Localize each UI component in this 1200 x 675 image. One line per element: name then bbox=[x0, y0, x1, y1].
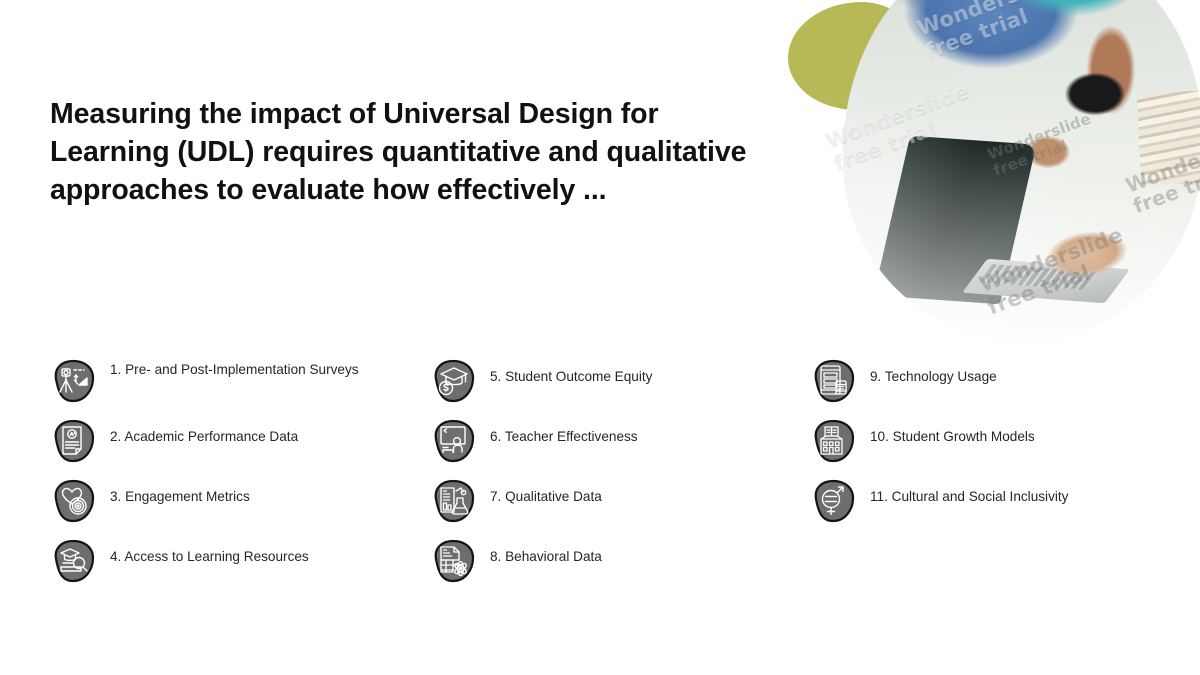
list-item[interactable]: 10. Student Growth Models bbox=[810, 418, 1160, 478]
list-column-1: 1. Pre- and Post-Implementation Surveys bbox=[50, 358, 430, 598]
list-column-3: 9. Technology Usage bbox=[810, 358, 1160, 598]
school-book-icon bbox=[810, 419, 856, 463]
report-card-grade-icon bbox=[50, 419, 96, 463]
list-item-label: 9. Technology Usage bbox=[870, 358, 997, 386]
whiteboard-teacher-icon bbox=[430, 419, 476, 463]
hero-photo-layer bbox=[843, 0, 1200, 342]
slide-canvas: Wonderslide free trial Wonderslide free … bbox=[0, 0, 1200, 675]
page-title: Measuring the impact of Universal Design… bbox=[50, 96, 780, 210]
tablet-device-icon bbox=[810, 359, 856, 403]
list-item-label: 2. Academic Performance Data bbox=[110, 418, 298, 446]
list-item[interactable]: 3. Engagement Metrics bbox=[50, 478, 430, 538]
graduation-magnifier-icon bbox=[50, 539, 96, 583]
list-item-label: 3. Engagement Metrics bbox=[110, 478, 250, 506]
list-item[interactable]: 2. Academic Performance Data bbox=[50, 418, 430, 478]
list-item[interactable]: 6. Teacher Effectiveness bbox=[430, 418, 810, 478]
list-item-label: 10. Student Growth Models bbox=[870, 418, 1035, 446]
list-item[interactable]: 7. Qualitative Data bbox=[430, 478, 810, 538]
list-item-label: 8. Behavioral Data bbox=[490, 538, 602, 566]
list-item[interactable]: 1. Pre- and Post-Implementation Surveys bbox=[50, 358, 430, 418]
graduation-cap-dollar-icon bbox=[430, 359, 476, 403]
list-item-label: 6. Teacher Effectiveness bbox=[490, 418, 638, 446]
list-item[interactable]: 5. Student Outcome Equity bbox=[430, 358, 810, 418]
list-item[interactable]: 9. Technology Usage bbox=[810, 358, 1160, 418]
books-stack bbox=[1137, 90, 1200, 186]
feature-list: 1. Pre- and Post-Implementation Surveys bbox=[50, 358, 1160, 598]
list-item-label: 4. Access to Learning Resources bbox=[110, 538, 309, 566]
document-atom-icon bbox=[430, 539, 476, 583]
survey-tripod-icon bbox=[50, 359, 96, 403]
list-item[interactable]: 8. Behavioral Data bbox=[430, 538, 810, 598]
heart-target-icon bbox=[50, 479, 96, 523]
hero-image bbox=[843, 0, 1200, 342]
gender-equality-icon bbox=[810, 479, 856, 523]
list-item-label: 1. Pre- and Post-Implementation Surveys bbox=[110, 358, 359, 379]
list-item-label: 11. Cultural and Social Inclusivity bbox=[870, 478, 1068, 506]
list-item[interactable]: 4. Access to Learning Resources bbox=[50, 538, 430, 598]
list-item-label: 7. Qualitative Data bbox=[490, 478, 602, 506]
list-item[interactable]: 11. Cultural and Social Inclusivity bbox=[810, 478, 1160, 538]
list-item-label: 5. Student Outcome Equity bbox=[490, 358, 652, 386]
list-column-2: 5. Student Outcome Equity bbox=[430, 358, 810, 598]
flask-chart-icon bbox=[430, 479, 476, 523]
